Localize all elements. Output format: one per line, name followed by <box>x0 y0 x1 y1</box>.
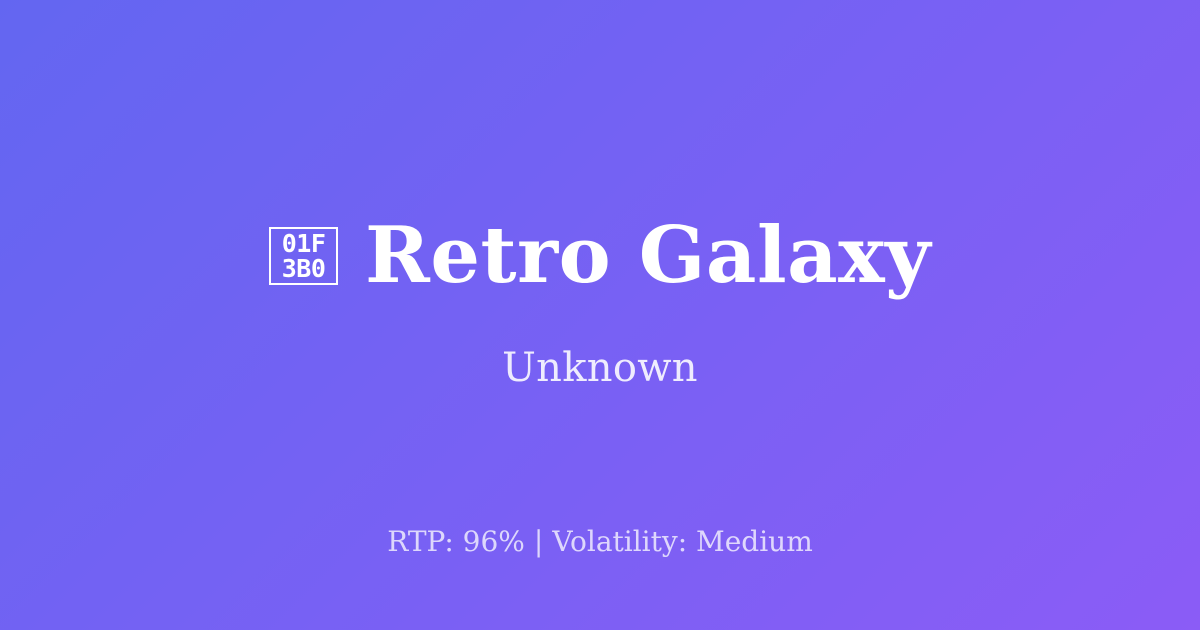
game-provider-subtitle: Unknown <box>502 346 698 390</box>
title-row: 01F 3B0 Retro Galaxy <box>269 216 931 296</box>
slot-machine-icon: 01F 3B0 <box>269 227 338 285</box>
meta-separator: | <box>525 526 552 558</box>
slot-machine-icon-codepoint-line-1: 01F <box>282 231 326 256</box>
rtp-value: RTP: 96% <box>387 526 525 558</box>
volatility-value: Volatility: Medium <box>552 526 812 558</box>
slot-machine-icon-codepoint-line-2: 3B0 <box>282 256 326 281</box>
game-meta-footer: RTP: 96% | Volatility: Medium <box>0 526 1200 558</box>
page-title: Retro Galaxy <box>365 216 931 296</box>
og-share-card: 01F 3B0 Retro Galaxy Unknown RTP: 96% | … <box>0 0 1200 630</box>
